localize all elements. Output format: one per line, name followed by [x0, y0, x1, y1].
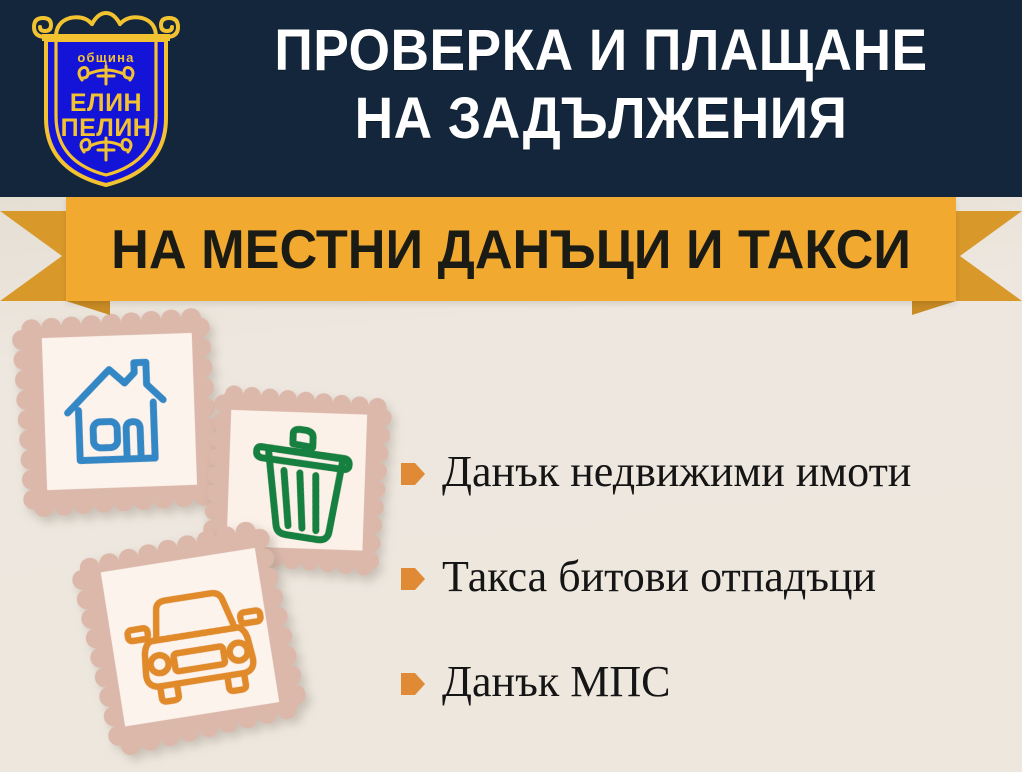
page-title-line-1: ПРОВЕРКА И ПЛАЩАНЕ — [223, 17, 979, 85]
list-item[interactable]: Такса битови отпадъци — [400, 525, 1020, 630]
ribbon-band: НА МЕСТНИ ДАНЪЦИ И ТАКСИ — [66, 197, 956, 301]
coat-of-arms-icon: община ЕЛИН ПЕЛИН — [26, 10, 186, 188]
svg-text:община: община — [77, 50, 134, 65]
arrow-bullet-icon — [400, 459, 426, 489]
list-item[interactable]: Данък МПС — [400, 630, 1020, 735]
poster-canvas: община ЕЛИН ПЕЛИН — [0, 0, 1022, 772]
arrow-bullet-icon — [400, 669, 426, 699]
svg-text:ЕЛИН: ЕЛИН — [70, 89, 142, 117]
subtitle-ribbon: НА МЕСТНИ ДАНЪЦИ И ТАКСИ — [0, 197, 1022, 309]
stamp-card-group — [0, 300, 420, 772]
ribbon-label: НА МЕСТНИ ДАНЪЦИ И ТАКСИ — [88, 197, 934, 301]
ribbon-fold-right — [912, 301, 956, 315]
stamp-card-car — [80, 525, 320, 765]
arrow-bullet-icon — [400, 564, 426, 594]
header-bar: община ЕЛИН ПЕЛИН — [0, 0, 1022, 197]
list-item-label: Данък недвижими имоти — [442, 449, 911, 495]
page-title-line-2: НА ЗАДЪЛЖЕНИЯ — [223, 85, 979, 153]
list-item-label: Такса битови отпадъци — [442, 554, 876, 600]
page-title: ПРОВЕРКА И ПЛАЩАНЕ НА ЗАДЪЛЖЕНИЯ — [223, 17, 979, 153]
list-item[interactable]: Данък недвижими имоти — [400, 420, 1020, 525]
municipality-logo: община ЕЛИН ПЕЛИН — [26, 10, 186, 188]
list-item-label: Данък МПС — [442, 659, 670, 705]
services-list: Данък недвижими имоти Такса битови отпад… — [400, 420, 1020, 735]
